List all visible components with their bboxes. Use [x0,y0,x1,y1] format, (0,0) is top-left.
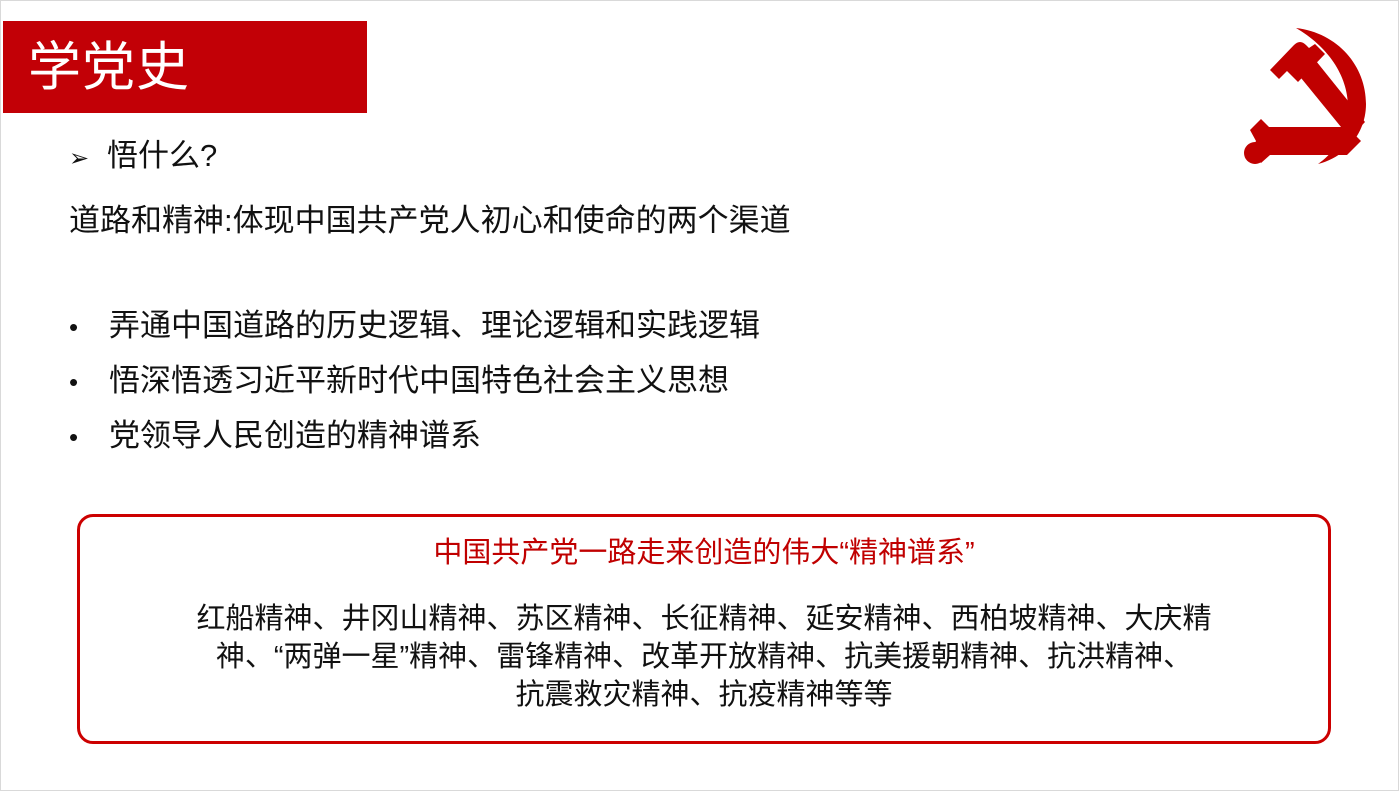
callout-body-line: 神、“两弹一星”精神、雷锋精神、改革开放精神、抗美援朝精神、抗洪精神、 [88,638,1320,676]
bullet-list: • 弄通中国道路的历史逻辑、理论逻辑和实践逻辑 • 悟深悟透习近平新时代中国特色… [69,299,1319,464]
callout-body: 红船精神、井冈山精神、苏区精神、长征精神、延安精神、西柏坡精神、大庆精 神、“两… [80,600,1328,714]
dot-bullet-icon: • [69,301,109,354]
list-item-label: 党领导人民创造的精神谱系 [109,409,481,462]
slide-canvas: 学党史 ➢ 悟什么? 道路和精神:体现中国共产党人初心和使命的两个渠道 [0,0,1399,791]
intro-line-1: ➢ 悟什么? [69,134,1319,181]
list-item-label: 弄通中国道路的历史逻辑、理论逻辑和实践逻辑 [109,299,760,352]
spirit-lineage-callout-box: 中国共产党一路走来创造的伟大“精神谱系” 红船精神、井冈山精神、苏区精神、长征精… [77,514,1331,744]
page-title: 学党史 [3,41,190,94]
list-item: • 悟深悟透习近平新时代中国特色社会主义思想 [69,354,1319,409]
dot-bullet-icon: • [69,356,109,409]
dot-bullet-icon: • [69,411,109,464]
callout-body-line: 抗震救灾精神、抗疫精神等等 [88,676,1320,714]
callout-heading: 中国共产党一路走来创造的伟大“精神谱系” [80,536,1328,570]
title-banner: 学党史 [3,21,367,113]
list-item-label: 悟深悟透习近平新时代中国特色社会主义思想 [109,354,729,407]
arrow-bullet-icon: ➢ [69,137,107,181]
list-item: • 弄通中国道路的历史逻辑、理论逻辑和实践逻辑 [69,299,1319,354]
list-item: • 党领导人民创造的精神谱系 [69,409,1319,464]
intro-block: ➢ 悟什么? 道路和精神:体现中国共产党人初心和使命的两个渠道 [69,134,1319,243]
intro-line-2-text: 道路和精神:体现中国共产党人初心和使命的两个渠道 [69,199,1319,243]
callout-body-line: 红船精神、井冈山精神、苏区精神、长征精神、延安精神、西柏坡精神、大庆精 [88,600,1320,638]
intro-line-1-text: 悟什么? [107,134,217,178]
